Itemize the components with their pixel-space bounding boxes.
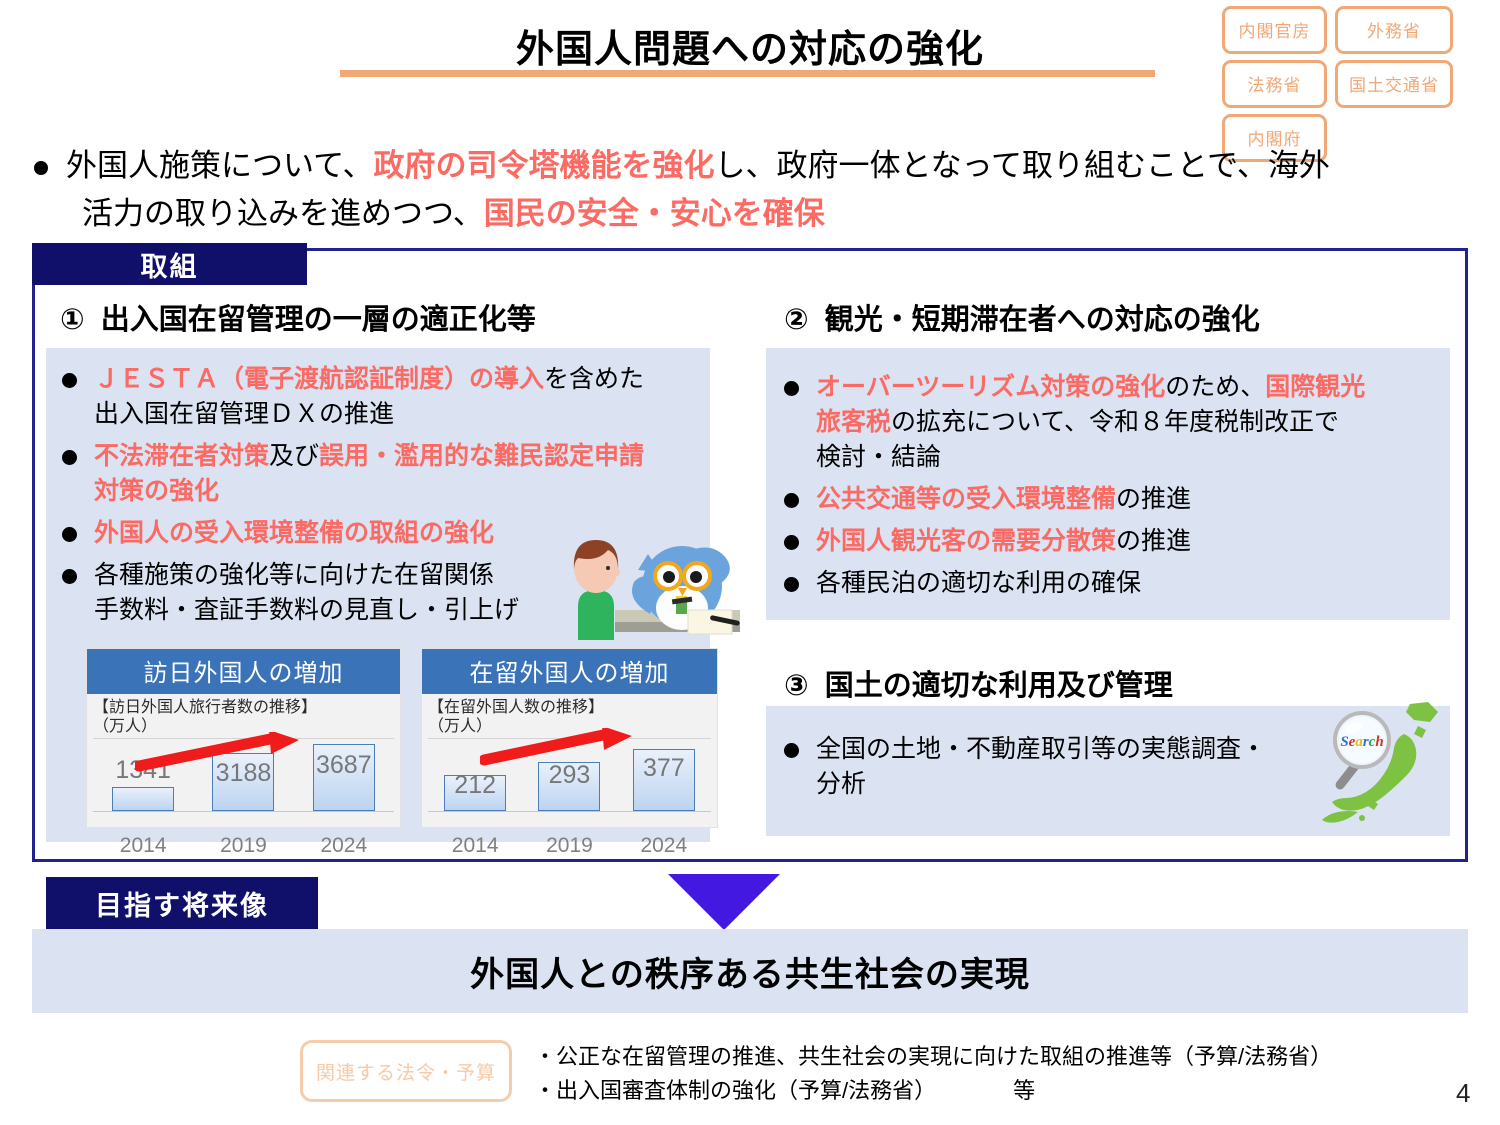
bullet-dot-icon <box>784 381 799 396</box>
woman-and-owl-illustration <box>560 528 745 640</box>
intro-bullet: 外国人施策について、政府の司令塔機能を強化し、政府一体となって取り組むことで、海… <box>34 142 1474 238</box>
bullet-dot-icon <box>784 493 799 508</box>
chart-2-title: 在留外国人の増加 <box>422 649 717 694</box>
chart-2-value-2024: 377 <box>617 754 711 783</box>
s1-b2-red: 不法滞在者対策 <box>94 442 269 470</box>
chart-1-xlabel-1: 2019 <box>193 834 293 856</box>
s1-b2-black: 及び <box>269 442 319 470</box>
chart-2-xlabel-2: 2024 <box>617 834 711 856</box>
bullet-dot-icon <box>784 743 799 758</box>
s1-b1-black2: 出入国在留管理ＤＸの推進 <box>94 400 394 428</box>
ministry-badge-justice: 法務省 <box>1222 60 1327 108</box>
s2-b2-black: の推進 <box>1116 485 1191 513</box>
s2-b1-black: のため、 <box>1165 373 1265 401</box>
list-item: 不法滞在者対策及び誤用・濫用的な難民認定申請 対策の強化 <box>62 439 698 509</box>
section-one-number: ① <box>60 304 85 336</box>
ministry-badge-cabinet-secretariat: 内閣官房 <box>1222 6 1327 54</box>
chart-2-subtitle: 【在留外国人数の推移】 <box>428 698 717 717</box>
chart-1-bar-rect <box>112 787 174 811</box>
section-two-number: ② <box>784 304 809 336</box>
s1-b2-red2: 誤用・濫用的な難民認定申請 <box>319 442 644 470</box>
chart-2-value-2014: 212 <box>428 771 522 800</box>
s2-b3-black: の推進 <box>1116 527 1191 555</box>
s2-b1-black2: の拡充について、令和８年度税制改正で <box>891 408 1339 436</box>
chart-foreign-residents: 在留外国人の増加 【在留外国人数の推移】 （万人） 212 293 377 <box>421 648 718 828</box>
chart-visitors-to-japan: 訪日外国人の増加 【訪日外国人旅行者数の推移】 （万人） 1341 3188 3… <box>86 648 401 828</box>
bullet-dot-icon <box>62 450 77 465</box>
intro-line-1-highlight: 政府の司令塔機能を強化 <box>374 148 715 183</box>
section-tag-torikumi: 取組 <box>32 243 307 285</box>
bullet-dot-icon <box>62 373 77 388</box>
chart-1-title: 訪日外国人の増加 <box>87 649 400 694</box>
bullet-dot-icon <box>34 161 48 175</box>
section-three-title: 国土の適切な利用及び管理 <box>825 670 1173 702</box>
s2-b1-black3: 検討・結論 <box>816 443 941 471</box>
intro-line-1-b: し、政府一体となって取り組むことで、海外 <box>715 148 1330 183</box>
section-tag-mezasu: 目指す将来像 <box>46 877 318 929</box>
s1-b1-black: を含めた <box>544 365 644 393</box>
intro-line-1: 外国人施策について、政府の司令塔機能を強化し、政府一体となって取り組むことで、海… <box>34 142 1474 190</box>
s2-b3-red: 外国人観光客の需要分散策 <box>816 527 1116 555</box>
list-item: 公共交通等の受入環境整備の推進 <box>784 482 1434 517</box>
vision-banner: 外国人との秩序ある共生社会の実現 <box>32 929 1468 1013</box>
chart-1-bar-2019: 3188 <box>193 737 293 811</box>
chart-2-bar-2019: 293 <box>522 737 616 811</box>
intro-line-2-highlight: 国民の安全・安心を確保 <box>484 196 825 231</box>
section-two-heading: ② 観光・短期滞在者への対応の強化 <box>784 296 1260 338</box>
s2-b1-red2: 国際観光 <box>1265 373 1365 401</box>
section-one-heading: ① 出入国在留管理の一層の適正化等 <box>60 296 536 338</box>
s1-b4-black: 各種施策の強化等に向けた在留関係 <box>94 561 494 589</box>
chart-2-xlabel-0: 2014 <box>428 834 522 856</box>
chart-1-ylabel: （万人） <box>93 717 400 736</box>
chart-1-bars: 1341 3188 3687 <box>93 737 394 811</box>
s2-b4-black: 各種民泊の適切な利用の確保 <box>816 569 1141 597</box>
chart-2-bar-2014: 212 <box>428 737 522 811</box>
chart-1-baseline <box>93 811 394 812</box>
bullet-dot-icon <box>62 527 77 542</box>
chart-1-value-2024: 3687 <box>294 751 394 780</box>
section-two-panel: オーバーツーリズム対策の強化のため、国際観光 旅客税の拡充について、令和８年度税… <box>766 348 1450 620</box>
s1-b1-red: ＪＥＳＴＡ（電子渡航認証制度）の導入 <box>94 365 544 393</box>
section-two-title: 観光・短期滞在者への対応の強化 <box>825 304 1260 336</box>
list-item: 各種民泊の適切な利用の確保 <box>784 566 1434 601</box>
s3-b1-black2: 分析 <box>816 770 866 798</box>
chart-2-xaxis: 2014 2019 2024 <box>428 832 711 858</box>
list-item: ＪＥＳＴＡ（電子渡航認証制度）の導入を含めた 出入国在留管理ＤＸの推進 <box>62 362 698 432</box>
chart-1-xlabel-2: 2024 <box>294 834 394 856</box>
vision-text: 外国人との秩序ある共生社会の実現 <box>470 947 1030 996</box>
s1-b3-red: 外国人の受入環境整備の取組の強化 <box>94 519 494 547</box>
japan-map-magnifier-illustration: Search <box>1318 700 1444 840</box>
s2-b1-red3: 旅客税 <box>816 408 891 436</box>
ministry-badge-row: 内閣官房 外務省 <box>1222 6 1484 54</box>
intro-line-2: 活力の取り込みを進めつつ、国民の安全・安心を確保 <box>34 190 1474 238</box>
chart-2-value-2019: 293 <box>522 761 616 790</box>
section-three-number: ③ <box>784 670 809 702</box>
s2-b1-red: オーバーツーリズム対策の強化 <box>816 373 1165 401</box>
chart-2-xlabel-1: 2019 <box>522 834 616 856</box>
list-item: 外国人観光客の需要分散策の推進 <box>784 524 1434 559</box>
page-number: 4 <box>1456 1078 1470 1109</box>
chart-1-xaxis: 2014 2019 2024 <box>93 832 394 858</box>
bullet-dot-icon <box>784 577 799 592</box>
chart-2-baseline <box>428 811 711 812</box>
section-three-heading: ③ 国土の適切な利用及び管理 <box>784 662 1173 704</box>
chart-1-bar-2024: 3687 <box>294 737 394 811</box>
legal-line-1: ・公正な在留管理の推進、共生社会の実現に向けた取組の推進等（予算/法務省） <box>534 1040 1332 1074</box>
list-item: オーバーツーリズム対策の強化のため、国際観光 旅客税の拡充について、令和８年度税… <box>784 370 1434 475</box>
chart-2-ylabel: （万人） <box>428 717 717 736</box>
bullet-dot-icon <box>784 535 799 550</box>
legal-line-2: ・出入国審査体制の強化（予算/法務省） 等 <box>534 1074 1332 1108</box>
ministry-badge-foreign-affairs: 外務省 <box>1335 6 1453 54</box>
ministry-badge-land-infrastructure-transport: 国土交通省 <box>1335 60 1453 108</box>
intro-line-2-a: 活力の取り込みを進めつつ、 <box>82 196 484 231</box>
s2-b2-red: 公共交通等の受入環境整備 <box>816 485 1116 513</box>
s1-b4-black2: 手数料・査証手数料の見直し・引上げ <box>94 596 519 624</box>
down-arrow-icon <box>668 874 780 930</box>
chart-2-bar-2024: 377 <box>617 737 711 811</box>
chart-1-value-2014: 1341 <box>93 756 193 785</box>
chart-2-plot: 212 293 377 <box>428 736 711 832</box>
intro-line-1-a: 外国人施策について、 <box>66 148 374 183</box>
bullet-dot-icon <box>62 569 77 584</box>
s1-b2-red3: 対策の強化 <box>94 477 219 505</box>
related-laws-budget-lines: ・公正な在留管理の推進、共生社会の実現に向けた取組の推進等（予算/法務省） ・出… <box>534 1040 1332 1108</box>
ministry-badge-row: 法務省 国土交通省 <box>1222 60 1484 108</box>
related-laws-budget-chip: 関連する法令・予算 <box>300 1040 512 1102</box>
chart-1-bar-2014: 1341 <box>93 737 193 811</box>
chart-1-plot: 1341 3188 3687 <box>93 736 394 832</box>
section-one-title: 出入国在留管理の一層の適正化等 <box>101 304 536 336</box>
chart-1-xlabel-0: 2014 <box>93 834 193 856</box>
chart-2-bars: 212 293 377 <box>428 737 711 811</box>
chart-1-value-2019: 3188 <box>193 759 293 788</box>
title-underline-rule <box>340 70 1155 77</box>
s3-b1-black: 全国の土地・不動産取引等の実態調査・ <box>816 735 1266 763</box>
chart-1-subtitle: 【訪日外国人旅行者数の推移】 <box>93 698 400 717</box>
svg-text:Search: Search <box>1340 734 1383 750</box>
